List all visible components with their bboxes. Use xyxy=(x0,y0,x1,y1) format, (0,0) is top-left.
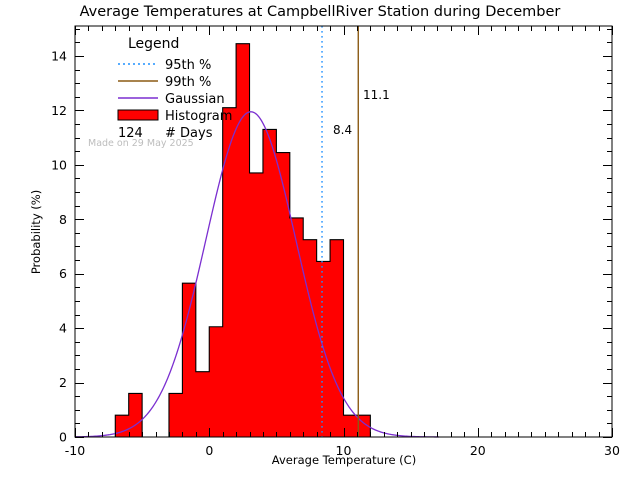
y-tick-label: 4 xyxy=(59,321,67,336)
y-tick-label: 8 xyxy=(59,212,67,227)
percentile-label-99th: 11.1 xyxy=(363,88,390,102)
y-tick-label: 14 xyxy=(51,48,67,63)
y-tick-label: 2 xyxy=(59,375,67,390)
legend-swatch-histogram xyxy=(118,110,158,120)
generation-stamp: Made on 29 May 2025 xyxy=(88,138,194,149)
temperature-histogram-chart: Average Temperatures at CampbellRiver St… xyxy=(0,0,640,480)
legend-label-gaussian: Gaussian xyxy=(165,92,225,107)
legend-title: Legend xyxy=(128,36,179,52)
x-tick-label: 30 xyxy=(604,443,620,458)
x-tick-label: 20 xyxy=(470,443,486,458)
y-tick-label: 10 xyxy=(51,157,67,172)
x-tick-label: 0 xyxy=(205,443,213,458)
y-tick-label: 6 xyxy=(59,266,67,281)
y-tick-label: 0 xyxy=(59,430,67,445)
x-axis-label: Average Temperature (C) xyxy=(272,453,416,467)
legend-label-95th-percentile: 95th % xyxy=(165,58,211,73)
y-axis-label: Probability (%) xyxy=(29,190,43,274)
x-tick-label: -10 xyxy=(65,443,85,458)
legend-label-histogram: Histogram xyxy=(165,109,232,124)
chart-container: Average Temperatures at CampbellRiver St… xyxy=(0,0,640,480)
legend-label-99th-percentile: 99th % xyxy=(165,75,211,90)
y-tick-label: 12 xyxy=(51,103,67,118)
percentile-label-95th: 8.4 xyxy=(333,123,352,137)
chart-title: Average Temperatures at CampbellRiver St… xyxy=(80,4,561,20)
